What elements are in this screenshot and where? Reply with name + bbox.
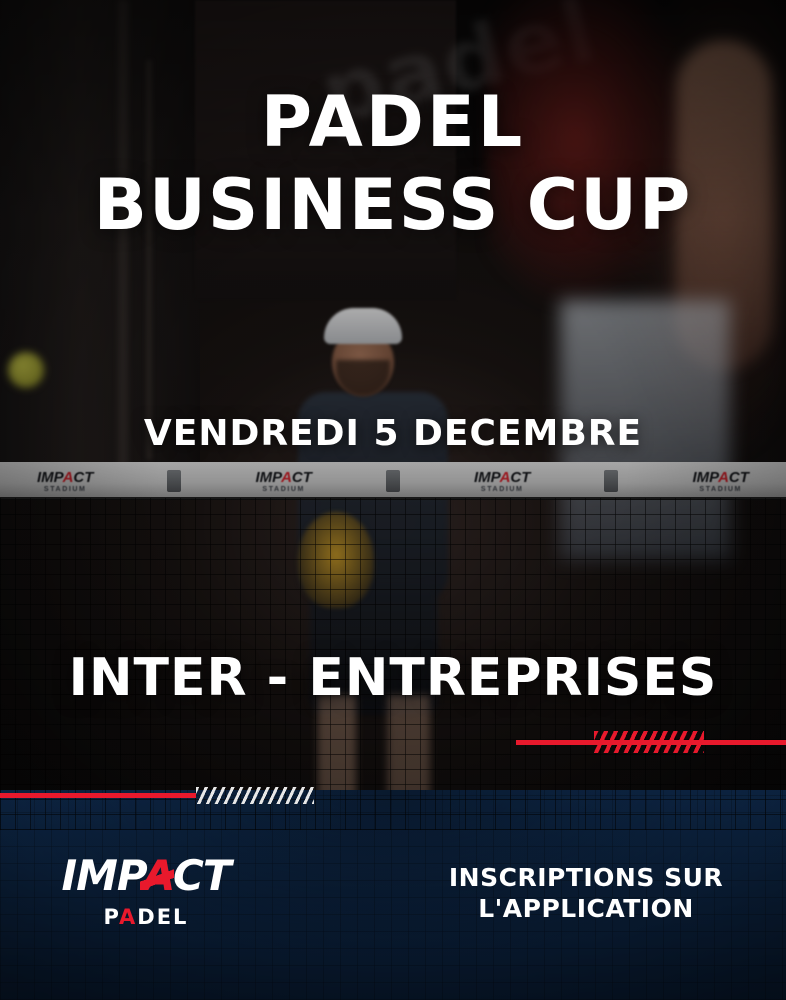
accent-left-stripes — [196, 787, 314, 804]
title-line-1: PADEL — [0, 88, 786, 157]
cta-line-1: INSCRIPTIONS SUR — [426, 862, 746, 893]
poster: padel IMPACT STADIUM IMPACT STADIUM — [0, 0, 786, 1000]
accent-graphic-right — [516, 731, 786, 753]
cta-line-2: L'APPLICATION — [426, 893, 746, 924]
brand-logo-part1: IMP — [61, 851, 142, 900]
title-line-2: BUSINESS CUP — [0, 171, 786, 240]
registration-call-to-action: INSCRIPTIONS SUR L'APPLICATION — [426, 862, 746, 925]
poster-title: PADEL BUSINESS CUP — [0, 88, 786, 239]
brand-logo-part2: CT — [173, 851, 230, 900]
event-date: VENDREDI 5 DECEMBRE — [0, 413, 786, 454]
brand-logo-wordmark: IMPACT — [36, 855, 256, 897]
brand-sub-part2: DEL — [137, 905, 188, 929]
brand-sub-part1: P — [104, 905, 119, 929]
brand-logo-subtitle: PADEL — [36, 905, 256, 929]
accent-right-stripes — [594, 731, 704, 753]
brand-sub-accent: A — [119, 905, 137, 929]
event-subject: INTER - ENTREPRISES — [0, 648, 786, 708]
brand-logo-accent: A — [143, 851, 173, 900]
brand-logo: IMPACT PADEL — [36, 855, 256, 929]
accent-graphic-left — [0, 786, 330, 806]
accent-left-bar — [0, 793, 196, 798]
